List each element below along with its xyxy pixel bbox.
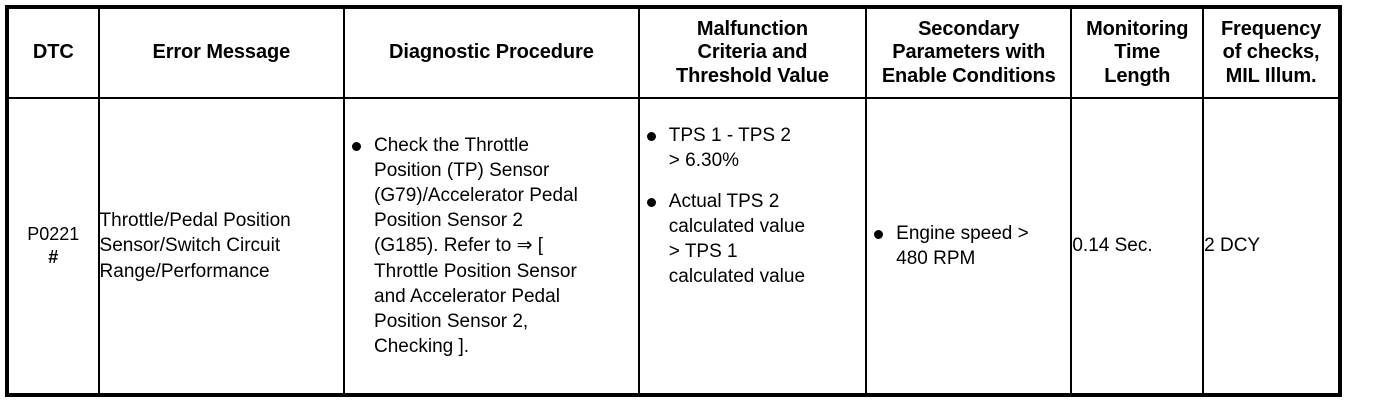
- table-body: P0221 # Throttle/Pedal Position Sensor/S…: [7, 98, 1340, 395]
- bullet-dot-icon: [352, 142, 361, 151]
- list-item: Check the Throttle Position (TP) Sensor …: [345, 133, 638, 359]
- malfunction-criteria-2-line-2: calculated value: [669, 214, 865, 239]
- cell-dtc-code: P0221 #: [7, 98, 99, 395]
- diagnostic-procedure-list: Check the Throttle Position (TP) Sensor …: [345, 133, 638, 359]
- table-header: DTC Error Message Diagnostic Procedure M…: [7, 7, 1340, 98]
- malfunction-criteria-1-line-1: TPS 1 - TPS 2: [669, 123, 865, 148]
- error-message-line-1: Throttle/Pedal Position: [100, 208, 343, 233]
- cell-malfunction-criteria: TPS 1 - TPS 2 > 6.30% Actual TPS 2 calcu…: [639, 98, 866, 395]
- dtc-code-hash-marker: #: [9, 246, 98, 269]
- diagnostic-procedure-line-5: (G185). Refer to ⇒ [: [374, 233, 638, 258]
- dtc-diagnostic-table: DTC Error Message Diagnostic Procedure M…: [5, 5, 1342, 397]
- column-header-dtc: DTC: [7, 7, 99, 98]
- column-header-malfunction-criteria-line-2: Criteria and: [640, 41, 865, 65]
- column-header-frequency-of-checks-line-2: of checks,: [1204, 41, 1338, 65]
- column-header-frequency-of-checks: Frequency of checks, MIL Illum.: [1203, 7, 1340, 98]
- document-page: DTC Error Message Diagnostic Procedure M…: [0, 0, 1376, 406]
- malfunction-criteria-2-line-4: calculated value: [669, 264, 865, 289]
- diagnostic-procedure-line-2: Position (TP) Sensor: [374, 158, 638, 183]
- list-item: Actual TPS 2 calculated value > TPS 1 ca…: [640, 189, 865, 289]
- bullet-dot-icon: [874, 230, 883, 239]
- diagnostic-procedure-line-7: and Accelerator Pedal: [374, 284, 638, 309]
- table-row: P0221 # Throttle/Pedal Position Sensor/S…: [7, 98, 1340, 395]
- diagnostic-procedure-line-1: Check the Throttle: [374, 133, 638, 158]
- secondary-parameters-list: Engine speed > 480 RPM: [867, 221, 1070, 271]
- column-header-diagnostic-procedure: Diagnostic Procedure: [344, 7, 639, 98]
- bullet-dot-icon: [647, 132, 656, 141]
- malfunction-criteria-list: TPS 1 - TPS 2 > 6.30% Actual TPS 2 calcu…: [640, 123, 865, 289]
- column-header-monitoring-time-length-line-3: Length: [1072, 65, 1202, 89]
- cell-error-message: Throttle/Pedal Position Sensor/Switch Ci…: [99, 98, 344, 395]
- header-row: DTC Error Message Diagnostic Procedure M…: [7, 7, 1340, 98]
- column-header-malfunction-criteria: Malfunction Criteria and Threshold Value: [639, 7, 866, 98]
- column-header-frequency-of-checks-line-1: Frequency: [1204, 18, 1338, 42]
- column-header-monitoring-time-length-line-1: Monitoring: [1072, 18, 1202, 42]
- column-header-dtc-line-1: DTC: [9, 41, 98, 65]
- cell-frequency-of-checks: 2 DCY: [1203, 98, 1340, 395]
- column-header-malfunction-criteria-line-1: Malfunction: [640, 18, 865, 42]
- cell-diagnostic-procedure: Check the Throttle Position (TP) Sensor …: [344, 98, 639, 395]
- diagnostic-procedure-line-3: (G79)/Accelerator Pedal: [374, 183, 638, 208]
- cell-secondary-parameters: Engine speed > 480 RPM: [866, 98, 1071, 395]
- diagnostic-procedure-line-9: Checking ].: [374, 334, 638, 359]
- column-header-monitoring-time-length: Monitoring Time Length: [1071, 7, 1203, 98]
- secondary-parameters-line-2: 480 RPM: [896, 246, 1070, 271]
- column-header-error-message: Error Message: [99, 7, 344, 98]
- malfunction-criteria-1-line-2: > 6.30%: [669, 148, 865, 173]
- malfunction-criteria-2-line-3: > TPS 1: [669, 239, 865, 264]
- column-header-malfunction-criteria-line-3: Threshold Value: [640, 65, 865, 89]
- diagnostic-procedure-line-8: Position Sensor 2,: [374, 309, 638, 334]
- column-header-secondary-parameters-line-3: Enable Conditions: [867, 65, 1070, 89]
- list-item: Engine speed > 480 RPM: [867, 221, 1070, 271]
- dtc-code-value: P0221: [9, 223, 98, 246]
- diagnostic-procedure-line-6: Throttle Position Sensor: [374, 259, 638, 284]
- column-header-frequency-of-checks-line-3: MIL Illum.: [1204, 65, 1338, 89]
- column-header-monitoring-time-length-line-2: Time: [1072, 41, 1202, 65]
- cell-monitoring-time-length: 0.14 Sec.: [1071, 98, 1203, 395]
- list-item: TPS 1 - TPS 2 > 6.30%: [640, 123, 865, 173]
- error-message-line-3: Range/Performance: [100, 259, 343, 284]
- secondary-parameters-line-1: Engine speed >: [896, 221, 1070, 246]
- column-header-error-message-line-1: Error Message: [100, 41, 343, 65]
- column-header-secondary-parameters: Secondary Parameters with Enable Conditi…: [866, 7, 1071, 98]
- diagnostic-procedure-line-4: Position Sensor 2: [374, 208, 638, 233]
- column-header-secondary-parameters-line-2: Parameters with: [867, 41, 1070, 65]
- column-header-secondary-parameters-line-1: Secondary: [867, 18, 1070, 42]
- column-header-diagnostic-procedure-line-1: Diagnostic Procedure: [345, 41, 638, 65]
- malfunction-criteria-2-line-1: Actual TPS 2: [669, 189, 865, 214]
- bullet-dot-icon: [647, 198, 656, 207]
- error-message-line-2: Sensor/Switch Circuit: [100, 233, 343, 258]
